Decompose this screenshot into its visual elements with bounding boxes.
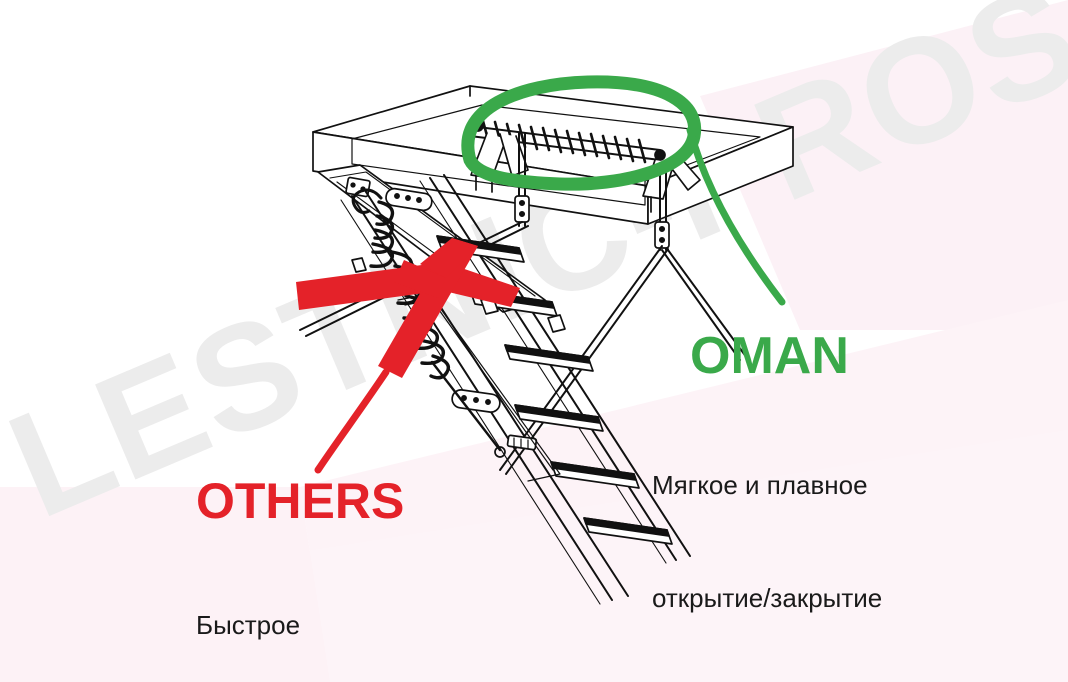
- oman-subtitle: Мягкое и плавное открытие/закрытие: [652, 392, 882, 682]
- red-cross-arrow: [296, 238, 520, 378]
- others-title: OTHERS: [196, 476, 404, 526]
- others-subtitle: Быстрое падение вниз: [196, 532, 359, 682]
- oman-title: OMAN: [690, 330, 849, 382]
- infographic-canvas: LESTNIC-PROSTO.RU: [0, 0, 1068, 682]
- oman-subtitle-line2: открытие/закрытие: [652, 580, 882, 618]
- red-leader-line: [318, 372, 386, 470]
- oman-subtitle-line1: Мягкое и плавное: [652, 467, 882, 505]
- others-subtitle-line1: Быстрое: [196, 607, 359, 645]
- red-annotation-layer: [0, 0, 1068, 682]
